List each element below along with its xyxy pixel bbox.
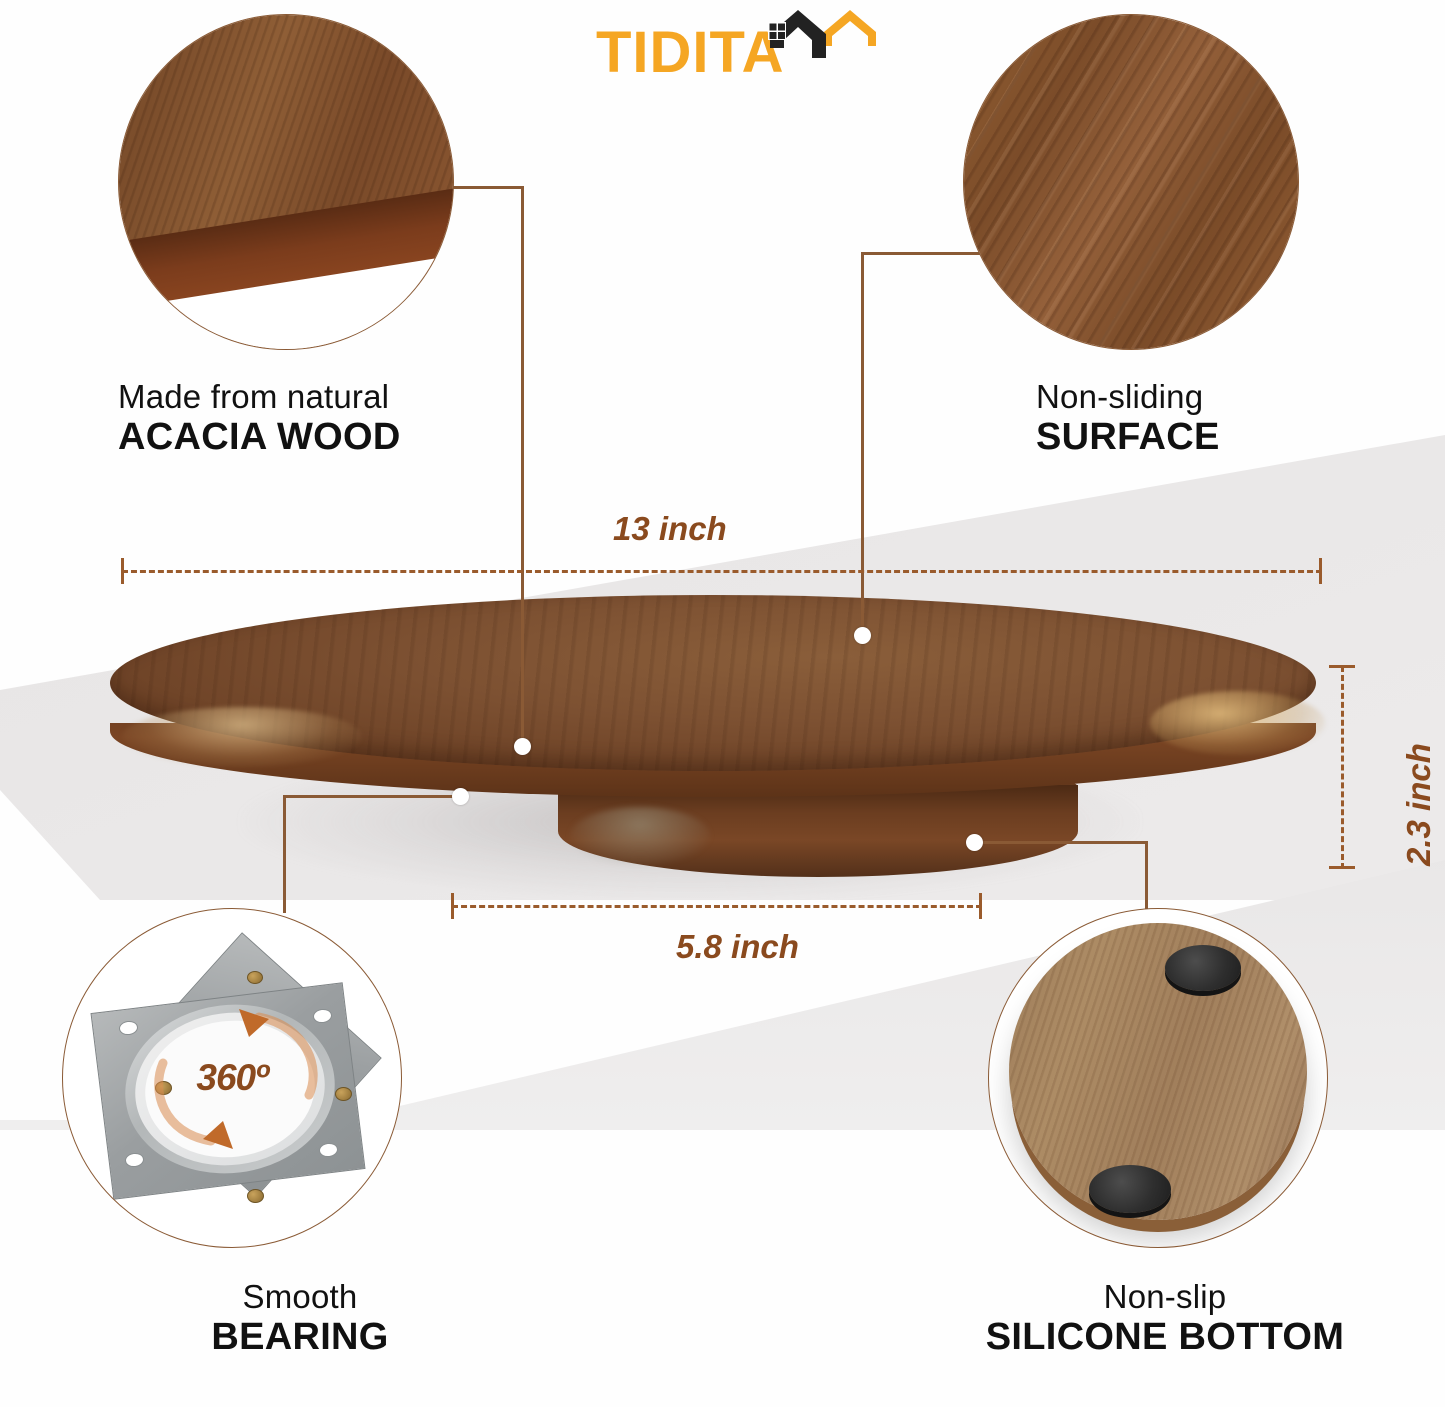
callout-dot-silicone (966, 834, 983, 851)
wood-grain-surface-icon (963, 14, 1299, 350)
lazy-susan-bearing-icon: 360º (63, 909, 401, 1247)
house-roof-icon (764, 8, 886, 70)
feature-image-surface (963, 14, 1299, 350)
feature-label-silicone-top: Non-slip (930, 1278, 1400, 1316)
feature-image-acacia-wood (118, 14, 454, 350)
rotation-badge: 360º (196, 1057, 267, 1099)
callout-line-silicone-horizontal (982, 841, 1148, 844)
dimension-cap-base-left (451, 893, 454, 919)
silicone-pads-underside-icon (989, 909, 1327, 1247)
feature-image-bearing: 360º (62, 908, 402, 1248)
feature-label-surface-bold: SURFACE (1036, 416, 1220, 460)
feature-label-bearing-top: Smooth (150, 1278, 450, 1316)
callout-dot-acacia (514, 738, 531, 755)
callout-dot-surface (854, 627, 871, 644)
callout-line-surface-horizontal (861, 252, 981, 255)
callout-line-acacia-horizontal (452, 186, 524, 189)
product-image-lazy-susan (110, 595, 1340, 895)
brand-logo: TIDITA (596, 8, 886, 88)
dimension-cap-base-right (979, 893, 982, 919)
brand-name: TIDITA (596, 24, 785, 82)
callout-line-surface-vertical (861, 252, 864, 635)
wood-edge-closeup-icon (119, 15, 453, 349)
dimension-cap-width-right (1319, 558, 1322, 584)
feature-label-silicone: Non-slip SILICONE BOTTOM (930, 1278, 1400, 1360)
callout-line-bearing-vertical (283, 795, 286, 913)
dimension-line-width (122, 570, 1322, 573)
feature-label-silicone-bold: SILICONE BOTTOM (930, 1316, 1400, 1360)
dimension-cap-height-top (1329, 665, 1355, 668)
callout-line-acacia-vertical (521, 186, 524, 746)
feature-label-acacia-bold: ACACIA WOOD (118, 416, 401, 460)
feature-label-acacia: Made from natural ACACIA WOOD (118, 378, 401, 460)
dimension-cap-height-bottom (1329, 866, 1355, 869)
dimension-label-width: 13 inch (613, 510, 727, 548)
dimension-label-base: 5.8 inch (676, 928, 799, 966)
dimension-cap-width-left (121, 558, 124, 584)
feature-label-surface-top: Non-sliding (1036, 378, 1220, 416)
feature-label-surface: Non-sliding SURFACE (1036, 378, 1220, 460)
dimension-label-height: 2.3 inch (1400, 743, 1438, 866)
feature-label-bearing-bold: BEARING (150, 1316, 450, 1360)
dimension-line-base (452, 905, 982, 908)
dimension-line-height (1341, 666, 1344, 869)
feature-image-silicone-bottom (988, 908, 1328, 1248)
callout-line-bearing-horizontal (283, 795, 463, 798)
feature-label-acacia-top: Made from natural (118, 378, 401, 416)
infographic-canvas: TIDITA (0, 0, 1445, 1407)
callout-dot-bearing (452, 788, 469, 805)
feature-label-bearing: Smooth BEARING (150, 1278, 450, 1360)
